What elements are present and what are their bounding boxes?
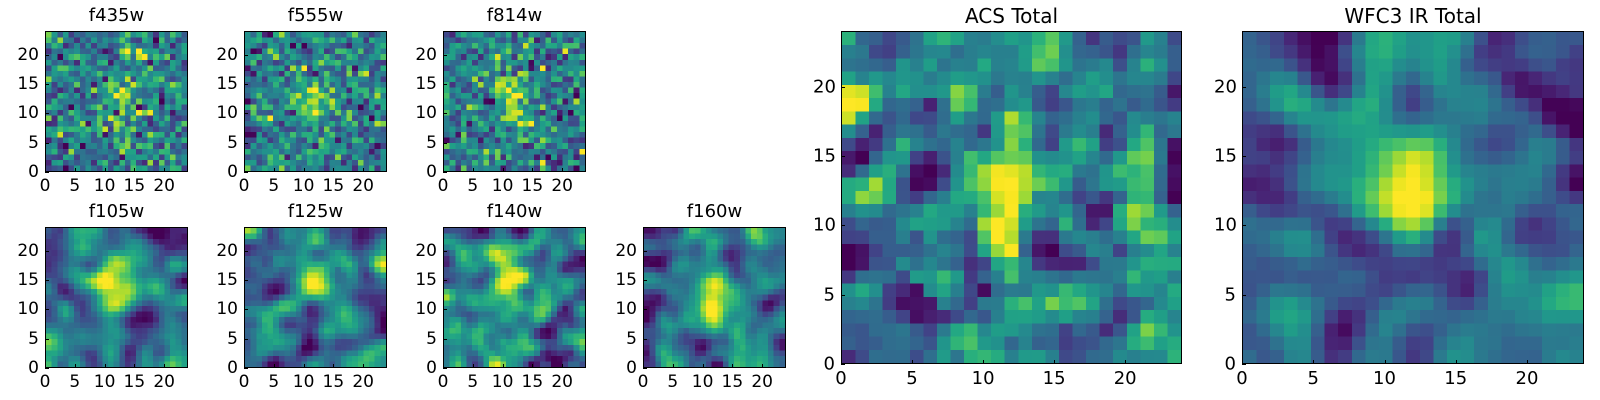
y-tick-label: 10 — [216, 299, 238, 319]
heatmap-image-f435w — [46, 32, 187, 171]
y-tick-label: 5 — [615, 329, 637, 349]
x-tick-label: 5 — [69, 372, 80, 392]
y-tick-label: 20 — [415, 241, 437, 261]
x-tick-label: 10 — [692, 372, 714, 392]
x-tick-label: 15 — [522, 176, 544, 196]
y-tick-mark — [1242, 87, 1246, 88]
y-tick-mark — [244, 172, 248, 173]
x-tick-label: 20 — [352, 176, 374, 196]
y-tick-mark — [841, 87, 845, 88]
y-tick-label: 15 — [216, 270, 238, 290]
y-tick-mark — [45, 309, 49, 310]
x-tick-label: 10 — [293, 372, 315, 392]
panel-title-f105w: f105w — [45, 201, 188, 222]
y-tick-mark — [841, 364, 845, 365]
x-tick-label: 0 — [438, 176, 449, 196]
y-tick-label: 10 — [415, 103, 437, 123]
panel-title-acs-total: ACS Total — [841, 4, 1182, 28]
x-tick-mark — [105, 168, 106, 172]
y-tick-mark — [1242, 225, 1246, 226]
y-tick-mark — [244, 113, 248, 114]
x-tick-label: 15 — [124, 176, 146, 196]
x-tick-label: 5 — [268, 176, 279, 196]
y-tick-label: 10 — [415, 299, 437, 319]
heatmap-image-f160w — [644, 228, 785, 367]
y-tick-mark — [841, 225, 845, 226]
x-tick-label: 10 — [1373, 368, 1396, 389]
panel-title-f125w: f125w — [244, 201, 387, 222]
y-tick-label: 0 — [1214, 354, 1236, 375]
x-tick-mark — [912, 360, 913, 364]
x-tick-label: 15 — [323, 176, 345, 196]
x-tick-label: 5 — [467, 176, 478, 196]
x-tick-mark — [1054, 360, 1055, 364]
heatmap-axes-f160w — [643, 227, 786, 368]
x-tick-mark — [304, 168, 305, 172]
y-tick-mark — [443, 339, 447, 340]
y-tick-label: 10 — [17, 299, 39, 319]
x-tick-label: 10 — [492, 176, 514, 196]
x-tick-label: 10 — [972, 368, 995, 389]
x-tick-label: 0 — [835, 368, 846, 389]
x-tick-mark — [333, 168, 334, 172]
y-tick-label: 5 — [415, 329, 437, 349]
y-tick-mark — [45, 251, 49, 252]
x-tick-label: 15 — [522, 372, 544, 392]
panel-title-f435w: f435w — [45, 5, 188, 26]
y-tick-label: 0 — [615, 358, 637, 378]
x-tick-label: 5 — [467, 372, 478, 392]
x-tick-mark — [1125, 360, 1126, 364]
y-tick-mark — [244, 339, 248, 340]
x-tick-label: 0 — [638, 372, 649, 392]
x-tick-mark — [732, 364, 733, 368]
panel-title-f140w: f140w — [443, 201, 586, 222]
x-tick-label: 20 — [153, 372, 175, 392]
x-tick-label: 5 — [667, 372, 678, 392]
x-tick-label: 0 — [239, 372, 250, 392]
y-tick-label: 0 — [216, 358, 238, 378]
heatmap-axes-f814w — [443, 31, 586, 172]
x-tick-mark — [983, 360, 984, 364]
x-tick-mark — [333, 364, 334, 368]
y-tick-label: 0 — [17, 358, 39, 378]
heatmap-image-f125w — [245, 228, 386, 367]
y-tick-mark — [45, 143, 49, 144]
y-tick-mark — [443, 251, 447, 252]
x-tick-mark — [134, 168, 135, 172]
y-tick-mark — [244, 280, 248, 281]
x-tick-mark — [304, 364, 305, 368]
x-tick-mark — [164, 168, 165, 172]
x-tick-label: 20 — [551, 176, 573, 196]
panel-title-f555w: f555w — [244, 5, 387, 26]
heatmap-image-wfc3-ir-total — [1243, 32, 1583, 363]
x-tick-mark — [562, 168, 563, 172]
heatmap-axes-f140w — [443, 227, 586, 368]
y-tick-mark — [45, 55, 49, 56]
x-tick-mark — [473, 168, 474, 172]
y-tick-mark — [244, 368, 248, 369]
x-tick-label: 10 — [94, 372, 116, 392]
y-tick-label: 5 — [17, 329, 39, 349]
y-tick-mark — [443, 84, 447, 85]
x-tick-label: 0 — [239, 176, 250, 196]
panel-title-f160w: f160w — [643, 201, 786, 222]
y-tick-label: 20 — [1214, 76, 1236, 97]
y-tick-label: 5 — [415, 133, 437, 153]
x-tick-label: 0 — [40, 176, 51, 196]
x-tick-label: 15 — [1444, 368, 1467, 389]
y-tick-label: 5 — [1214, 284, 1236, 305]
y-tick-label: 15 — [813, 145, 835, 166]
y-tick-label: 15 — [17, 270, 39, 290]
y-tick-mark — [1242, 295, 1246, 296]
y-tick-label: 15 — [216, 74, 238, 94]
y-tick-mark — [244, 309, 248, 310]
y-tick-mark — [841, 295, 845, 296]
y-tick-label: 15 — [415, 270, 437, 290]
y-tick-label: 20 — [415, 45, 437, 65]
y-tick-label: 20 — [615, 241, 637, 261]
heatmap-axes-f555w — [244, 31, 387, 172]
y-tick-label: 15 — [1214, 145, 1236, 166]
heatmap-image-f140w — [444, 228, 585, 367]
x-tick-label: 0 — [438, 372, 449, 392]
y-tick-label: 10 — [615, 299, 637, 319]
x-tick-label: 0 — [40, 372, 51, 392]
y-tick-label: 20 — [813, 76, 835, 97]
x-tick-mark — [532, 168, 533, 172]
y-tick-label: 10 — [216, 103, 238, 123]
y-tick-label: 0 — [216, 162, 238, 182]
y-tick-label: 15 — [615, 270, 637, 290]
x-tick-mark — [1385, 360, 1386, 364]
x-tick-label: 20 — [352, 372, 374, 392]
y-tick-label: 0 — [813, 354, 835, 375]
x-tick-label: 5 — [906, 368, 917, 389]
x-tick-mark — [1527, 360, 1528, 364]
x-tick-mark — [363, 364, 364, 368]
y-tick-mark — [643, 251, 647, 252]
heatmap-axes-f105w — [45, 227, 188, 368]
x-tick-mark — [363, 168, 364, 172]
y-tick-label: 20 — [216, 45, 238, 65]
y-tick-mark — [244, 55, 248, 56]
x-tick-label: 10 — [492, 372, 514, 392]
y-tick-mark — [443, 172, 447, 173]
x-tick-label: 20 — [1114, 368, 1137, 389]
y-tick-label: 15 — [17, 74, 39, 94]
y-tick-label: 5 — [813, 284, 835, 305]
y-tick-mark — [45, 84, 49, 85]
y-tick-mark — [443, 368, 447, 369]
y-tick-mark — [443, 309, 447, 310]
x-tick-label: 5 — [69, 176, 80, 196]
y-tick-mark — [244, 84, 248, 85]
y-tick-mark — [643, 280, 647, 281]
y-tick-mark — [45, 339, 49, 340]
y-tick-mark — [443, 143, 447, 144]
y-tick-mark — [1242, 156, 1246, 157]
y-tick-mark — [45, 368, 49, 369]
panel-title-f814w: f814w — [443, 5, 586, 26]
y-tick-label: 0 — [415, 358, 437, 378]
x-tick-mark — [1456, 360, 1457, 364]
x-tick-mark — [562, 364, 563, 368]
y-tick-label: 0 — [415, 162, 437, 182]
x-tick-label: 15 — [1043, 368, 1066, 389]
x-tick-mark — [75, 168, 76, 172]
y-tick-label: 5 — [216, 133, 238, 153]
heatmap-axes-wfc3-ir-total — [1242, 31, 1584, 364]
x-tick-label: 15 — [722, 372, 744, 392]
y-tick-mark — [1242, 364, 1246, 365]
x-tick-label: 10 — [94, 176, 116, 196]
x-tick-mark — [503, 364, 504, 368]
x-tick-mark — [503, 168, 504, 172]
x-tick-mark — [134, 364, 135, 368]
x-tick-label: 15 — [323, 372, 345, 392]
y-tick-mark — [643, 309, 647, 310]
x-tick-mark — [274, 364, 275, 368]
x-tick-mark — [274, 168, 275, 172]
y-tick-mark — [443, 113, 447, 114]
heatmap-axes-f435w — [45, 31, 188, 172]
x-tick-label: 5 — [268, 372, 279, 392]
x-tick-mark — [473, 364, 474, 368]
y-tick-mark — [643, 339, 647, 340]
y-tick-label: 5 — [216, 329, 238, 349]
x-tick-label: 20 — [751, 372, 773, 392]
x-tick-mark — [762, 364, 763, 368]
x-tick-mark — [703, 364, 704, 368]
y-tick-label: 5 — [17, 133, 39, 153]
x-tick-label: 5 — [1308, 368, 1319, 389]
y-tick-label: 15 — [415, 74, 437, 94]
panel-title-wfc3-ir-total: WFC3 IR Total — [1242, 4, 1584, 28]
heatmap-axes-f125w — [244, 227, 387, 368]
y-tick-label: 20 — [17, 241, 39, 261]
x-tick-label: 20 — [551, 372, 573, 392]
figure-canvas: f435w0510152005101520f555w05101520051015… — [0, 0, 1600, 400]
y-tick-label: 0 — [17, 162, 39, 182]
y-tick-mark — [244, 143, 248, 144]
x-tick-mark — [105, 364, 106, 368]
heatmap-image-f555w — [245, 32, 386, 171]
y-tick-label: 20 — [216, 241, 238, 261]
y-tick-label: 20 — [17, 45, 39, 65]
x-tick-label: 10 — [293, 176, 315, 196]
x-tick-label: 20 — [153, 176, 175, 196]
x-tick-mark — [673, 364, 674, 368]
y-tick-mark — [45, 113, 49, 114]
y-tick-label: 10 — [1214, 215, 1236, 236]
y-tick-mark — [643, 368, 647, 369]
y-tick-mark — [443, 55, 447, 56]
x-tick-mark — [164, 364, 165, 368]
heatmap-image-f105w — [46, 228, 187, 367]
y-tick-mark — [443, 280, 447, 281]
x-tick-label: 0 — [1236, 368, 1247, 389]
y-tick-label: 10 — [813, 215, 835, 236]
x-tick-mark — [75, 364, 76, 368]
heatmap-image-f814w — [444, 32, 585, 171]
y-tick-mark — [841, 156, 845, 157]
y-tick-mark — [244, 251, 248, 252]
x-tick-label: 15 — [124, 372, 146, 392]
heatmap-image-acs-total — [842, 32, 1181, 363]
y-tick-label: 10 — [17, 103, 39, 123]
heatmap-axes-acs-total — [841, 31, 1182, 364]
x-tick-label: 20 — [1516, 368, 1539, 389]
y-tick-mark — [45, 172, 49, 173]
y-tick-mark — [45, 280, 49, 281]
x-tick-mark — [532, 364, 533, 368]
x-tick-mark — [1313, 360, 1314, 364]
